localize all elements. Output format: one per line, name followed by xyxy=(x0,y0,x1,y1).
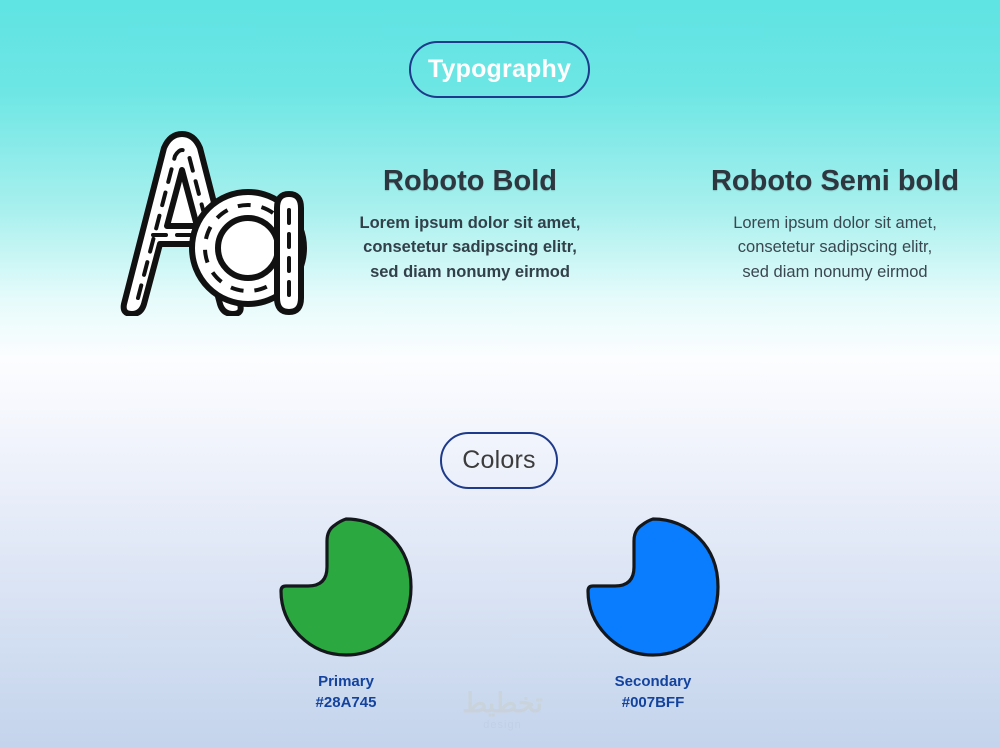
watermark-main: تخطيط xyxy=(462,688,543,719)
typography-badge-label: Typography xyxy=(428,55,571,84)
type-specimen-semibold: Roboto Semi bold Lorem ipsum dolor sit a… xyxy=(690,165,980,284)
color-swatch-primary[interactable]: Primary #28A745 xyxy=(246,516,446,713)
specimen-body: Lorem ipsum dolor sit amet, consetetur s… xyxy=(690,211,980,284)
colors-section-badge[interactable]: Colors xyxy=(440,432,558,489)
swatch-hex: #28A745 xyxy=(246,693,446,714)
bitten-circle-icon xyxy=(582,516,724,658)
specimen-body-line: sed diam nonumy eirmod xyxy=(345,260,595,284)
specimen-body-line: consetetur sadipscing elitr, xyxy=(690,235,980,259)
color-swatch-secondary[interactable]: Secondary #007BFF xyxy=(553,516,753,713)
specimen-title: Roboto Bold xyxy=(345,165,595,198)
letter-aa-outline-icon xyxy=(36,126,326,316)
watermark-sub: design xyxy=(483,719,521,731)
specimen-body-line: consetetur sadipscing elitr, xyxy=(345,235,595,259)
type-specimen-bold: Roboto Bold Lorem ipsum dolor sit amet, … xyxy=(345,165,595,284)
typography-section-badge[interactable]: Typography xyxy=(409,41,590,98)
bitten-circle-icon xyxy=(275,516,417,658)
swatch-name: Primary xyxy=(246,672,446,693)
specimen-body-line: Lorem ipsum dolor sit amet, xyxy=(690,211,980,235)
swatch-hex: #007BFF xyxy=(553,693,753,714)
specimen-body-line: Lorem ipsum dolor sit amet, xyxy=(345,211,595,235)
colors-badge-label: Colors xyxy=(462,446,535,475)
specimen-body: Lorem ipsum dolor sit amet, consetetur s… xyxy=(345,211,595,284)
specimen-title: Roboto Semi bold xyxy=(690,165,980,198)
specimen-body-line: sed diam nonumy eirmod xyxy=(690,260,980,284)
swatch-name: Secondary xyxy=(553,672,753,693)
